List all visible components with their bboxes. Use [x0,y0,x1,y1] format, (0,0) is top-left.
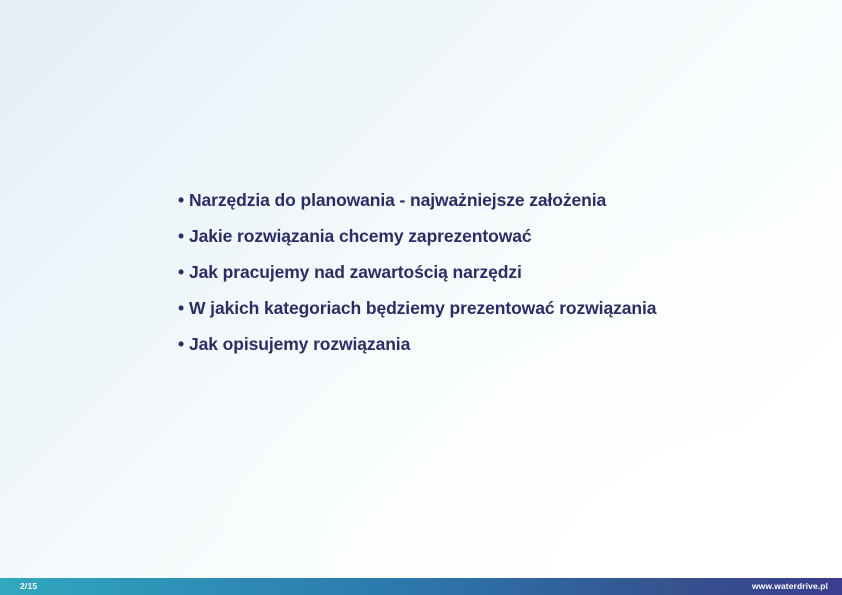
bullet-list: •Narzędzia do planowania - najważniejsze… [178,182,818,362]
list-item-label: W jakich kategoriach będziemy prezentowa… [189,298,656,318]
bullet-point-icon: • [178,326,189,362]
bullet-point-icon: • [178,290,189,326]
list-item-label: Narzędzia do planowania - najważniejsze … [189,190,606,210]
list-item: •Jak pracujemy nad zawartością narzędzi [178,254,818,290]
list-item-label: Jak pracujemy nad zawartością narzędzi [189,262,522,282]
bullet-point-icon: • [178,218,189,254]
list-item: •Jakie rozwiązania chcemy zaprezentować [178,218,818,254]
list-item: •W jakich kategoriach będziemy prezentow… [178,290,818,326]
presentation-slide: •Narzędzia do planowania - najważniejsze… [0,0,842,595]
site-url-label: www.waterdrive.pl [752,578,828,595]
page-number: 2/15 [20,578,37,595]
slide-footer-bar: 2/15 www.waterdrive.pl [0,578,842,595]
bullet-point-icon: • [178,254,189,290]
list-item: •Narzędzia do planowania - najważniejsze… [178,182,818,218]
list-item: •Jak opisujemy rozwiązania [178,326,818,362]
bullet-point-icon: • [178,182,189,218]
list-item-label: Jak opisujemy rozwiązania [189,334,410,354]
list-item-label: Jakie rozwiązania chcemy zaprezentować [189,226,531,246]
